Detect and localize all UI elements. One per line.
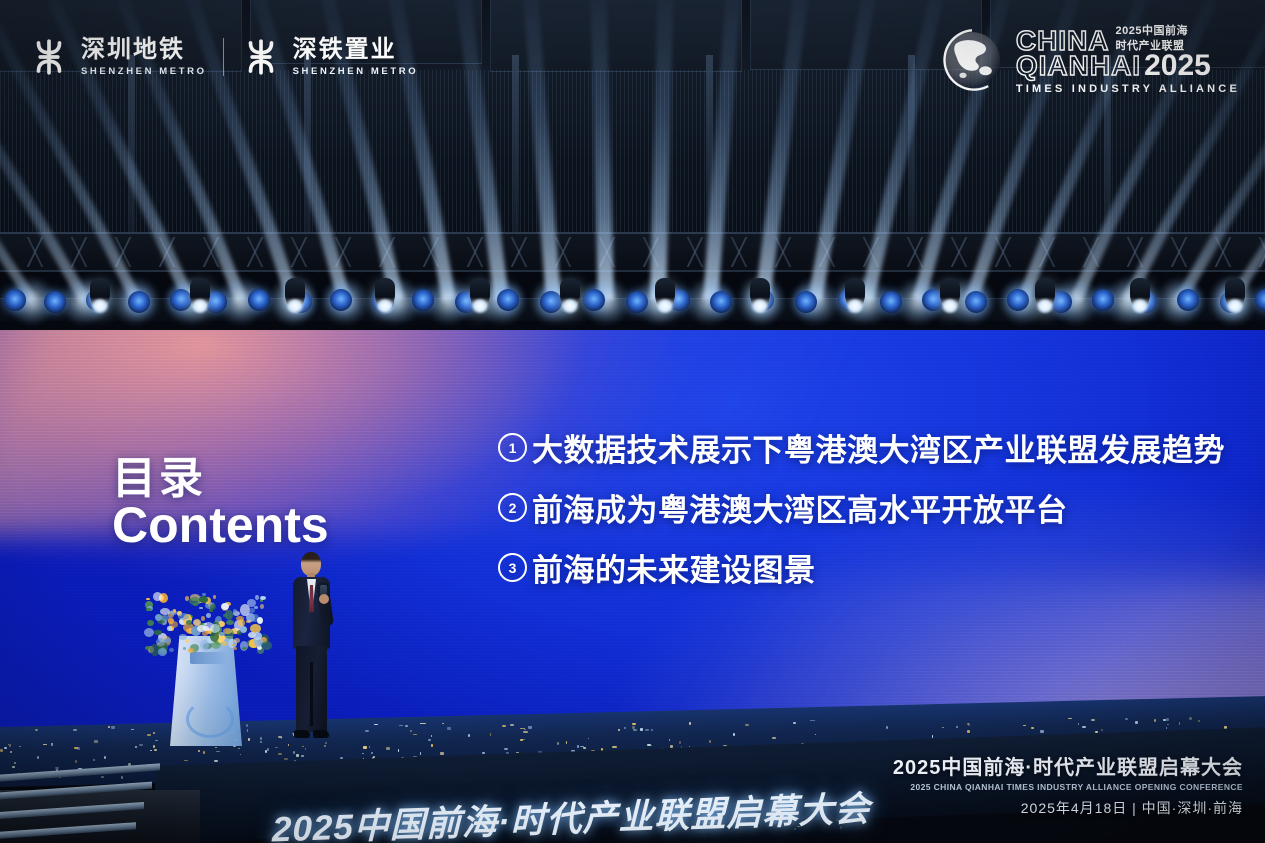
confetti-piece	[340, 757, 343, 759]
list-item: 2 前海成为粤港澳大湾区高水平开放平台	[498, 485, 1238, 530]
ceiling-slats	[0, 70, 1265, 250]
confetti-piece	[93, 759, 95, 761]
confetti-piece	[640, 728, 643, 731]
stage-light-fixture	[1092, 289, 1114, 311]
confetti-piece	[51, 745, 53, 746]
confetti-piece	[386, 747, 390, 750]
flower-petal	[201, 616, 205, 621]
flower-petal	[199, 607, 203, 609]
event-logo-qianhai: QIANHAI	[1016, 53, 1141, 80]
confetti-piece	[557, 742, 559, 745]
stage-light-fixture	[795, 291, 817, 313]
ceiling-panel	[490, 0, 742, 72]
confetti-piece	[633, 729, 637, 731]
stage-step	[0, 802, 144, 819]
confetti-piece	[139, 744, 143, 746]
flower-petal	[249, 608, 255, 613]
stage-light-head	[940, 278, 960, 310]
ceiling-beam	[706, 55, 713, 250]
shenzhen-metro-mark-icon	[240, 36, 282, 78]
flower-petal	[260, 596, 266, 600]
confetti-piece	[267, 748, 269, 751]
ceiling-beam	[128, 55, 135, 250]
confetti-piece	[135, 746, 137, 748]
confetti-piece	[523, 731, 528, 733]
stage-light-head	[375, 278, 395, 310]
confetti-piece	[1166, 718, 1169, 721]
conference-stage-photo: 目录 Contents 1 大数据技术展示下粤港澳大湾区产业联盟发展趋势 2 前…	[0, 0, 1265, 843]
confetti-piece	[1198, 720, 1200, 722]
confetti-piece	[260, 737, 262, 740]
stage-light-fixture	[128, 291, 150, 313]
list-item-label: 前海成为粤港澳大湾区高水平开放平台	[532, 485, 1068, 530]
confetti-piece	[4, 747, 7, 749]
confetti-piece	[1166, 727, 1167, 729]
flower-petal	[178, 613, 189, 620]
confetti-piece	[43, 744, 47, 745]
podium-arc-graphic	[186, 700, 234, 738]
sponsor-name-cn: 深圳地铁	[81, 37, 207, 62]
confetti-piece	[510, 724, 514, 726]
flower-petal	[222, 641, 227, 646]
confetti-piece	[19, 746, 21, 747]
event-logo: CHINA 2025中国前海 时代产业联盟 QIANHAI 2025 TIMES…	[936, 24, 1240, 96]
stage-light-fixture	[44, 291, 66, 313]
slide-heading-en: Contents	[112, 500, 412, 551]
flower-petal	[233, 647, 237, 650]
confetti-piece	[577, 745, 579, 748]
stage-light-head	[1035, 278, 1055, 310]
flower-petal	[144, 628, 154, 637]
stage-light-head	[285, 278, 305, 310]
flower-petal	[261, 641, 272, 650]
confetti-piece	[301, 755, 304, 757]
stage-light-head	[1130, 278, 1150, 310]
flower-petal	[160, 608, 170, 615]
flower-petal	[210, 604, 216, 610]
list-item-label: 前海的未来建设图景	[532, 545, 816, 590]
confetti-piece	[284, 758, 288, 760]
ceiling-beam	[512, 55, 519, 250]
confetti-piece	[203, 751, 205, 754]
confetti-piece	[278, 753, 282, 755]
confetti-piece	[296, 754, 299, 757]
confetti-piece	[147, 734, 151, 736]
confetti-piece	[968, 723, 970, 726]
flower-petal	[210, 631, 219, 642]
confetti-piece	[365, 730, 369, 732]
list-item-number: 1	[498, 433, 527, 462]
confetti-piece	[679, 741, 681, 744]
slide-contents-list: 1 大数据技术展示下粤港澳大湾区产业联盟发展趋势 2 前海成为粤港澳大湾区高水平…	[498, 425, 1238, 605]
confetti-piece	[632, 723, 636, 725]
flower-petal	[168, 618, 174, 624]
confetti-piece	[73, 729, 77, 731]
flower-petal	[147, 620, 154, 626]
flower-petal	[240, 626, 247, 633]
confetti-piece	[325, 742, 327, 744]
stage-light-fixture	[626, 291, 648, 313]
confetti-piece	[428, 739, 431, 741]
confetti-piece	[265, 750, 267, 753]
stage-light-fixture	[497, 289, 519, 311]
confetti-piece	[184, 760, 188, 761]
list-item-number: 2	[498, 493, 527, 522]
stage-light-fixture	[248, 289, 270, 311]
globe-icon	[936, 24, 1008, 96]
slide-heading-cn: 目录	[112, 457, 412, 502]
confetti-piece	[520, 739, 523, 741]
sponsor-name-en: SHENZHEN METRO	[293, 66, 419, 77]
stage-light-fixture	[170, 289, 192, 311]
podium-logo-plate	[190, 652, 228, 664]
confetti-piece	[612, 746, 617, 748]
flower-petal	[186, 620, 192, 625]
speaker-figure	[283, 552, 339, 742]
flower-petal	[188, 648, 194, 653]
confetti-piece	[793, 722, 796, 724]
confetti-piece	[154, 749, 157, 751]
flower-petal	[145, 646, 150, 650]
flower-petal	[257, 617, 263, 624]
flower-arrangement	[144, 592, 264, 652]
confetti-piece	[709, 740, 711, 743]
speaker-shoe	[313, 730, 329, 738]
confetti-piece	[1091, 719, 1095, 721]
flower-petal	[199, 596, 208, 603]
confetti-piece	[10, 751, 12, 753]
flower-petal	[146, 608, 151, 611]
stage-step	[0, 782, 152, 800]
confetti-piece	[1082, 726, 1086, 728]
confetti-piece	[108, 726, 110, 728]
stage-light-head	[655, 278, 675, 310]
stage-light-fixture	[4, 289, 26, 311]
slide-heading: 目录 Contents	[112, 457, 412, 551]
confetti-piece	[363, 746, 367, 749]
event-logo-year: 2025	[1144, 52, 1211, 81]
confetti-piece	[886, 726, 888, 729]
list-item: 1 大数据技术展示下粤港澳大湾区产业联盟发展趋势	[498, 425, 1238, 470]
stage-light-head	[560, 278, 580, 310]
flower-petal	[185, 639, 189, 643]
confetti-piece	[0, 749, 3, 752]
confetti-piece	[772, 737, 776, 739]
confetti-piece	[447, 727, 451, 730]
shenzhen-metro-mark-icon	[28, 36, 70, 78]
confetti-piece	[51, 743, 53, 745]
flower-petal	[206, 613, 211, 618]
event-logo-wordmark: CHINA 2025中国前海 时代产业联盟 QIANHAI 2025 TIMES…	[1016, 25, 1240, 95]
confetti-piece	[618, 729, 620, 731]
flower-petal	[242, 647, 247, 650]
confetti-piece	[288, 744, 289, 746]
sponsor-name-cn: 深铁置业	[293, 37, 419, 62]
stage-light-fixture	[1007, 289, 1029, 311]
confetti-piece	[214, 760, 218, 762]
sponsor-logo-bar: 深圳地铁 SHENZHEN METRO 深铁置业 SHENZHEN METRO	[28, 36, 418, 78]
lighting-truss	[0, 232, 1265, 272]
flower-petal	[213, 595, 216, 599]
speaker-leg-gap	[310, 662, 313, 726]
confetti-piece	[810, 720, 815, 721]
confetti-piece	[504, 748, 508, 750]
stage-light-fixture	[710, 291, 732, 313]
conference-date-location: 2025年4月18日 | 中国·深圳·前海	[893, 800, 1243, 816]
sponsor-name-en: SHENZHEN METRO	[81, 66, 207, 77]
confetti-piece	[153, 745, 155, 748]
stage-light-fixture	[540, 291, 562, 313]
confetti-piece	[583, 747, 586, 749]
flower-petal	[226, 620, 234, 625]
stage-light-head	[845, 278, 865, 310]
flower-petal	[202, 631, 208, 636]
speaker-shoe	[294, 730, 310, 738]
flower-petal	[260, 604, 264, 609]
logo-divider	[223, 38, 224, 76]
stage-light-head	[750, 278, 770, 310]
list-item: 3 前海的未来建设图景	[498, 545, 1238, 590]
confetti-piece	[1135, 721, 1138, 724]
stage-light-fixture	[880, 291, 902, 313]
stage-step	[0, 763, 160, 781]
confetti-piece	[410, 730, 412, 732]
stage-steps	[0, 763, 175, 843]
flower-petal	[223, 614, 227, 617]
conference-title-cn: 2025中国前海·时代产业联盟启幕大会	[893, 757, 1243, 780]
confetti-piece	[1154, 719, 1156, 722]
stage-light-fixture	[1177, 289, 1199, 311]
stage-light-head	[470, 278, 490, 310]
confetti-piece	[442, 723, 444, 724]
stage-light-head	[190, 278, 210, 310]
conference-info-block: 2025中国前海·时代产业联盟启幕大会 2025 CHINA QIANHAI T…	[893, 757, 1243, 816]
speaker-hand	[319, 594, 329, 604]
list-item-label: 大数据技术展示下粤港澳大湾区产业联盟发展趋势	[532, 425, 1225, 470]
stage-light-head	[90, 278, 110, 310]
stage-light-fixture	[583, 289, 605, 311]
stage-light-fixture	[412, 289, 434, 311]
ceiling-beam	[908, 55, 915, 250]
event-logo-tagline: TIMES INDUSTRY ALLIANCE	[1016, 83, 1240, 95]
flower-petal	[234, 638, 240, 643]
confetti-piece	[468, 734, 470, 737]
stage-light-fixture	[965, 291, 987, 313]
confetti-piece	[1125, 718, 1128, 720]
flower-petal	[169, 648, 174, 652]
flower-petal	[221, 603, 229, 610]
confetti-piece	[35, 729, 38, 731]
confetti-piece	[689, 722, 691, 725]
confetti-piece	[155, 740, 158, 741]
confetti-piece	[94, 740, 98, 743]
confetti-piece	[278, 736, 282, 738]
sponsor-logo-shenzhen-metro-properties: 深铁置业 SHENZHEN METRO	[240, 36, 419, 78]
sponsor-logo-shenzhen-metro: 深圳地铁 SHENZHEN METRO	[28, 36, 207, 78]
confetti-piece	[1031, 727, 1034, 729]
confetti-piece	[502, 725, 506, 727]
confetti-piece	[111, 726, 115, 729]
flower-petal	[253, 632, 262, 640]
flower-petal	[146, 598, 150, 600]
conference-title-en: 2025 CHINA QIANHAI TIMES INDUSTRY ALLIAN…	[893, 783, 1243, 793]
flower-petal	[255, 595, 259, 600]
confetti-piece	[104, 756, 106, 759]
flower-petal	[173, 609, 176, 613]
flower-petal	[158, 648, 167, 656]
confetti-piece	[745, 724, 749, 726]
flower-petal	[156, 638, 165, 646]
flower-petal	[154, 630, 162, 635]
confetti-piece	[246, 724, 248, 727]
flower-petal	[183, 647, 186, 650]
stage-light-fixture	[330, 289, 352, 311]
confetti-piece	[645, 729, 649, 731]
confetti-piece	[932, 735, 933, 738]
confetti-piece	[942, 727, 944, 728]
stage-step	[0, 822, 136, 839]
stage-light-head	[1225, 278, 1245, 310]
event-logo-cn-top: 2025中国前海	[1116, 25, 1188, 40]
ceiling-beam	[304, 55, 311, 250]
confetti-piece	[1068, 718, 1072, 719]
list-item-number: 3	[498, 553, 527, 582]
flower-petal	[189, 597, 200, 605]
